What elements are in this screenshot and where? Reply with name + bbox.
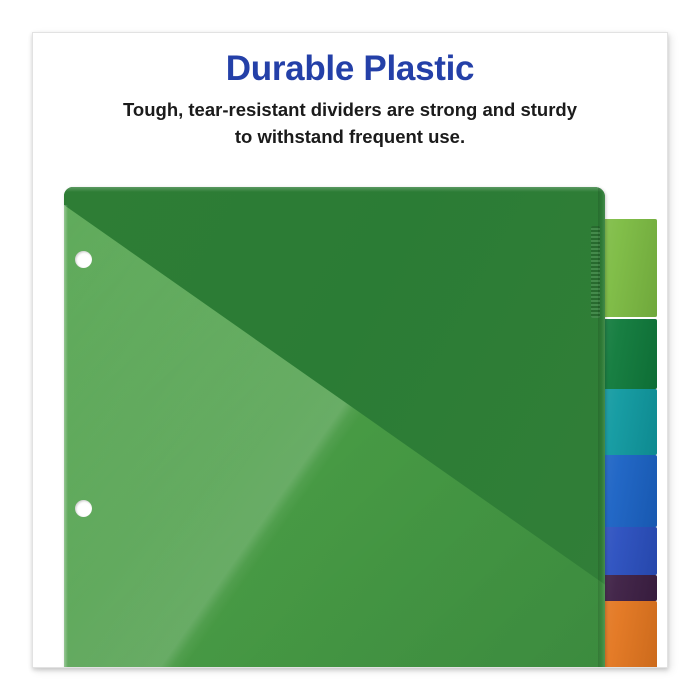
top-punch-hole bbox=[75, 251, 92, 268]
subtitle-line-1: Tough, tear-resistant dividers are stron… bbox=[123, 99, 577, 120]
product-photo bbox=[64, 187, 668, 668]
green-divider-sheet bbox=[64, 187, 605, 668]
subtitle-line-2: to withstand frequent use. bbox=[235, 126, 465, 147]
screenshot-stage: Durable Plastic Tough, tear-resistant di… bbox=[0, 0, 700, 700]
sheet-top-glint bbox=[64, 187, 605, 192]
bottom-punch-hole bbox=[75, 500, 92, 517]
product-image-card: Durable Plastic Tough, tear-resistant di… bbox=[32, 32, 668, 668]
right-edge-crease bbox=[598, 187, 605, 668]
flap-left-edge bbox=[64, 205, 68, 668]
page-subtitle: Tough, tear-resistant dividers are stron… bbox=[33, 97, 667, 151]
page-title: Durable Plastic bbox=[33, 50, 667, 89]
